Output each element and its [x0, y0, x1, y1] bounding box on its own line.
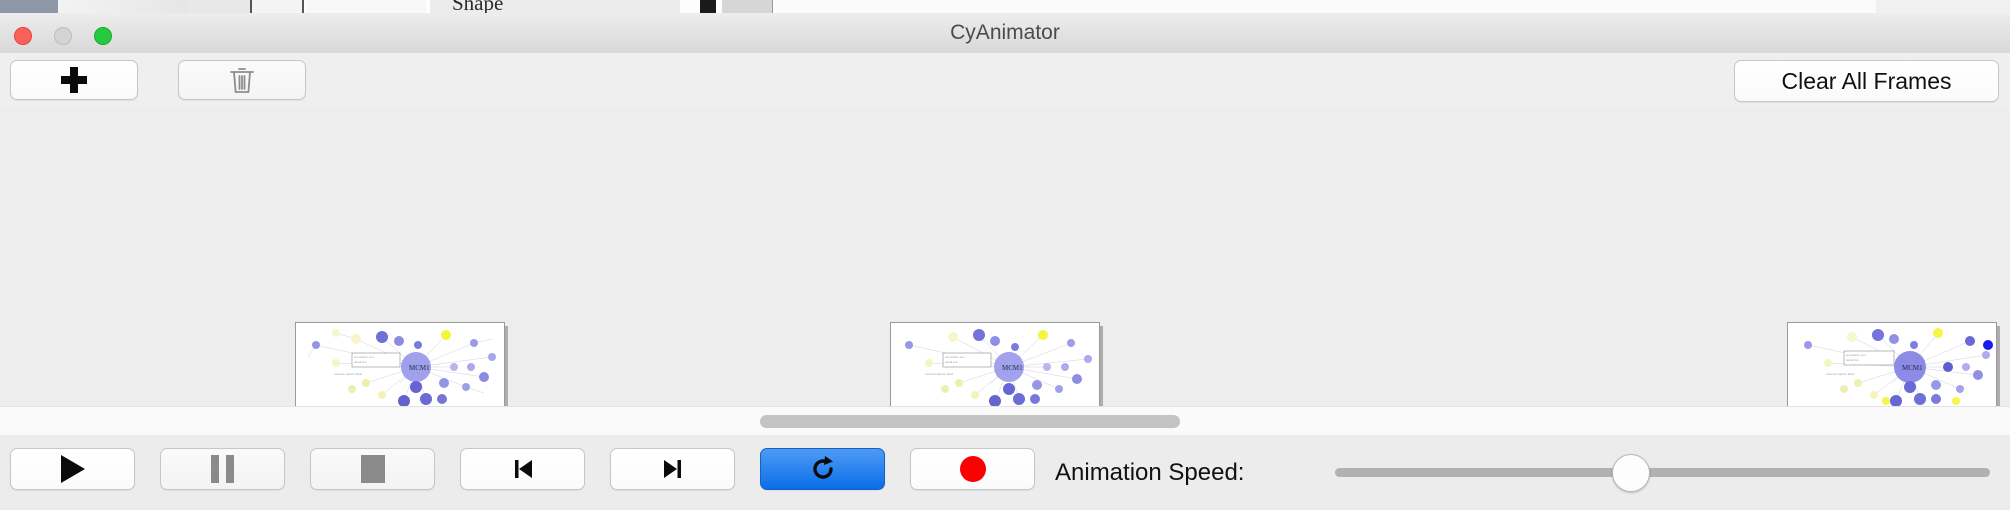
loop-button[interactable]	[760, 448, 885, 490]
svg-text:network caption label: network caption label	[1826, 372, 1855, 376]
svg-text:MCM1: MCM1	[1002, 364, 1023, 372]
title-bar: CyAnimator	[0, 13, 2010, 54]
record-button[interactable]	[910, 448, 1035, 490]
svg-text:MCM1: MCM1	[409, 364, 430, 372]
bg-chunk	[188, 0, 252, 13]
stop-button[interactable]	[310, 448, 435, 490]
loop-icon	[807, 453, 839, 485]
svg-text:detail line: detail line	[945, 360, 958, 364]
network-thumbnail: annotation text detail line network capt…	[296, 323, 504, 409]
svg-text:MCM1: MCM1	[1902, 364, 1923, 372]
svg-text:annotation text: annotation text	[945, 355, 965, 359]
timeline-frame-1[interactable]: annotation text detail line network capt…	[295, 322, 505, 410]
timeline-panel[interactable]: annotation text detail line network capt…	[0, 108, 2010, 407]
svg-text:network caption label: network caption label	[334, 372, 363, 376]
svg-text:network caption label: network caption label	[925, 372, 954, 376]
bg-chunk	[58, 0, 188, 13]
svg-text:annotation text: annotation text	[1846, 353, 1866, 357]
delete-frame-button[interactable]	[178, 60, 306, 100]
animation-speed-slider[interactable]	[1335, 468, 1990, 477]
timeline-scrollbar[interactable]	[0, 406, 2010, 436]
bg-chunk	[776, 0, 1876, 13]
scrollbar-thumb[interactable]	[760, 415, 1180, 428]
timeline-frame-3[interactable]: annotation text detail line network capt…	[1787, 322, 1997, 410]
timeline-frame-2[interactable]: annotation text detail line network capt…	[890, 322, 1100, 410]
slider-track[interactable]	[1335, 468, 1990, 477]
playback-toolbar: Animation Speed:	[0, 435, 2010, 510]
window-title: CyAnimator	[0, 13, 2010, 53]
bg-chunk	[1876, 0, 2010, 13]
background-window-label: Shape	[452, 0, 503, 13]
network-thumbnail: annotation text detail line network capt…	[891, 323, 1099, 409]
animation-speed-label: Animation Speed:	[1055, 459, 1244, 487]
skip-back-icon	[508, 454, 538, 484]
network-thumbnail: annotation text detail line network capt…	[1788, 323, 1996, 409]
clear-all-frames-button[interactable]: Clear All Frames	[1734, 60, 1999, 102]
pause-button[interactable]	[160, 448, 285, 490]
record-icon	[960, 456, 986, 482]
svg-text:detail line: detail line	[1846, 358, 1859, 362]
svg-text:annotation text: annotation text	[354, 355, 374, 359]
cyanimator-window: Shape CyAnimator Clear All Frames	[0, 0, 2010, 510]
add-frame-button[interactable]	[10, 60, 138, 100]
next-frame-button[interactable]	[610, 448, 735, 490]
bg-chunk	[722, 0, 773, 13]
svg-text:detail line: detail line	[354, 360, 367, 364]
bg-chunk	[306, 0, 426, 13]
play-icon	[61, 455, 85, 483]
slider-thumb[interactable]	[1612, 454, 1650, 492]
bg-chunk	[252, 0, 304, 13]
clear-all-frames-label: Clear All Frames	[1782, 68, 1952, 95]
play-button[interactable]	[10, 448, 135, 490]
bg-chunk	[700, 0, 716, 13]
stop-icon	[361, 455, 385, 483]
pause-icon	[211, 455, 234, 483]
background-window-strip: Shape	[0, 0, 2010, 13]
trash-icon	[228, 65, 256, 95]
plus-icon	[61, 67, 87, 93]
frame-toolbar: Clear All Frames	[0, 53, 2010, 109]
skip-forward-icon	[658, 454, 688, 484]
bg-chunk	[0, 0, 58, 13]
prev-frame-button[interactable]	[460, 448, 585, 490]
